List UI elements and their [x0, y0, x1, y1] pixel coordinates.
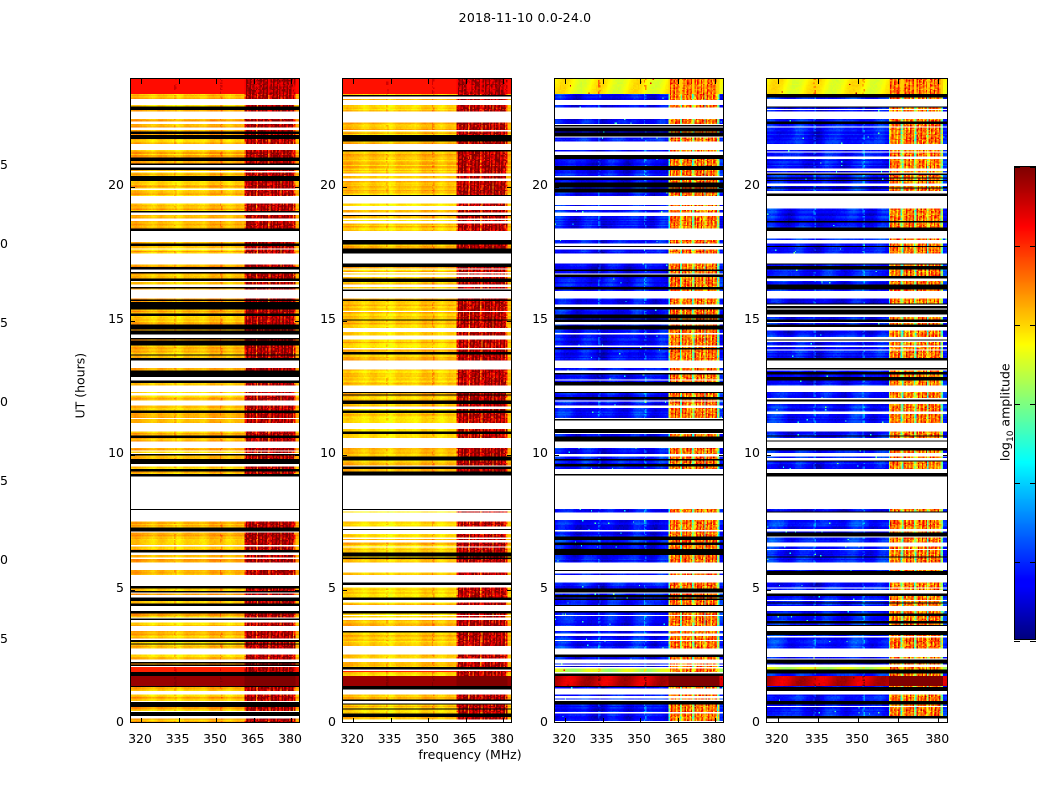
x-tick-top [678, 79, 679, 84]
x-tick-label: 320 [544, 731, 584, 746]
x-tick [179, 718, 180, 723]
x-tick-top [565, 79, 566, 84]
x-tick-label: 380 [694, 731, 734, 746]
colorbar-tick-label: −2.5 [0, 631, 8, 646]
x-tick [291, 718, 292, 723]
colorbar-tick [1014, 325, 1020, 326]
x-tick-top [898, 79, 899, 84]
y-tick [554, 590, 559, 591]
panel-yx[interactable]: YX, V2=EA12 [766, 78, 948, 723]
x-tick [678, 718, 679, 723]
x-tick-label: 380 [482, 731, 522, 746]
y-tick [766, 590, 771, 591]
colorbar-tick-right [1030, 325, 1036, 326]
y-tick [130, 590, 135, 591]
x-tick [898, 718, 899, 723]
x-tick-label: 335 [582, 731, 622, 746]
x-tick [640, 718, 641, 723]
x-tick [428, 718, 429, 723]
x-tick-top [603, 79, 604, 84]
colorbar-tick-label: 0.5 [0, 157, 8, 172]
y-tick-label: 0 [720, 714, 760, 729]
colorbar-tick-right [1030, 562, 1036, 563]
y-axis-label: UT (hours) [73, 378, 88, 418]
x-tick-label: 320 [120, 731, 160, 746]
y-tick-label: 10 [508, 445, 548, 460]
x-tick [858, 718, 859, 723]
y-tick-label: 20 [84, 177, 124, 192]
colorbar-label-sub: 10 [1006, 431, 1016, 442]
y-tick-label: 20 [720, 177, 760, 192]
x-tick-label: 335 [797, 731, 837, 746]
colorbar-tick-label: −1.5 [0, 473, 8, 488]
x-tick [938, 718, 939, 723]
y-tick-label: 5 [720, 580, 760, 595]
panel-xx[interactable]: XX, V2=EA12 [130, 78, 300, 723]
x-tick [391, 718, 392, 723]
x-tick-label: 365 [657, 731, 697, 746]
x-tick [818, 718, 819, 723]
y-tick-label: 0 [84, 714, 124, 729]
y-tick-right [943, 590, 948, 591]
x-tick [715, 718, 716, 723]
x-tick-top [216, 79, 217, 84]
y-tick [766, 187, 771, 188]
x-tick-top [858, 79, 859, 84]
colorbar-tick-right [1030, 483, 1036, 484]
colorbar-tick [1014, 641, 1020, 642]
x-tick-top [141, 79, 142, 84]
colorbar-tick-label: −2.0 [0, 552, 8, 567]
x-tick-top [291, 79, 292, 84]
x-tick [503, 718, 504, 723]
panel-yy[interactable]: YY, V2=EA12 [342, 78, 512, 723]
colorbar-label: log10 amplitude [998, 363, 1017, 461]
figure-suptitle: 2018-11-10 0.0-24.0 [0, 10, 1050, 25]
x-tick [603, 718, 604, 723]
x-tick-top [428, 79, 429, 84]
x-tick-top [503, 79, 504, 84]
x-tick-label: 350 [837, 731, 877, 746]
x-tick-label: 335 [370, 731, 410, 746]
y-tick-right [943, 321, 948, 322]
waterfall-canvas-xx [131, 79, 299, 722]
y-tick-label: 15 [84, 311, 124, 326]
y-tick [130, 187, 135, 188]
x-tick [353, 718, 354, 723]
colorbar-tick-right [1030, 167, 1036, 168]
x-tick [466, 718, 467, 723]
x-tick [141, 718, 142, 723]
y-tick-label: 0 [296, 714, 336, 729]
x-tick-top [353, 79, 354, 84]
waterfall-canvas-yy [343, 79, 511, 722]
colorbar[interactable] [1014, 166, 1036, 640]
x-tick-top [640, 79, 641, 84]
y-tick-label: 15 [296, 311, 336, 326]
colorbar-tick [1014, 483, 1020, 484]
colorbar-tick-label: 0.0 [0, 236, 8, 251]
y-tick [554, 455, 559, 456]
y-tick-label: 15 [508, 311, 548, 326]
y-tick-label: 15 [720, 311, 760, 326]
x-tick [778, 718, 779, 723]
y-tick-label: 10 [720, 445, 760, 460]
y-tick [130, 321, 135, 322]
x-tick-label: 380 [917, 731, 957, 746]
y-tick-label: 20 [296, 177, 336, 192]
colorbar-tick [1014, 246, 1020, 247]
y-tick-label: 5 [84, 580, 124, 595]
x-tick-label: 335 [158, 731, 198, 746]
x-tick-label: 380 [270, 731, 310, 746]
y-tick-label: 10 [296, 445, 336, 460]
x-tick-label: 350 [407, 731, 447, 746]
y-tick [342, 590, 347, 591]
y-tick [342, 321, 347, 322]
colorbar-label-base: log [998, 442, 1013, 461]
x-tick-top [254, 79, 255, 84]
x-tick-label: 350 [619, 731, 659, 746]
x-tick-top [179, 79, 180, 84]
colorbar-tick [1014, 167, 1020, 168]
y-tick [130, 455, 135, 456]
x-tick-top [818, 79, 819, 84]
x-tick-top [391, 79, 392, 84]
y-tick [554, 321, 559, 322]
colorbar-tick-label: −1.0 [0, 394, 8, 409]
y-tick-label: 20 [508, 177, 548, 192]
y-tick-label: 5 [296, 580, 336, 595]
panel-image-yx [767, 79, 947, 722]
x-tick [565, 718, 566, 723]
colorbar-tick-right [1030, 246, 1036, 247]
colorbar-tick-right [1030, 404, 1036, 405]
colorbar-tick [1014, 562, 1020, 563]
colorbar-tick-right [1030, 641, 1036, 642]
x-tick-label: 365 [233, 731, 273, 746]
waterfall-canvas-xy [555, 79, 723, 722]
x-tick-top [778, 79, 779, 84]
colorbar-tick-label: −0.5 [0, 315, 8, 330]
colorbar-gradient [1015, 167, 1035, 639]
panel-image-xy [555, 79, 723, 722]
y-tick-right [943, 455, 948, 456]
colorbar-label-rest: amplitude [998, 363, 1013, 430]
y-tick-label: 10 [84, 445, 124, 460]
y-tick-label: 5 [508, 580, 548, 595]
x-tick-label: 365 [877, 731, 917, 746]
x-axis-label: frequency (MHz) [340, 747, 600, 762]
x-tick-top [938, 79, 939, 84]
panel-xy[interactable]: XY, V2=EA12 [554, 78, 724, 723]
panel-image-xx [131, 79, 299, 722]
y-tick [342, 455, 347, 456]
y-tick [342, 187, 347, 188]
panel-image-yy [343, 79, 511, 722]
y-tick-right [943, 187, 948, 188]
waterfall-canvas-yx [767, 79, 947, 722]
x-tick-top [715, 79, 716, 84]
x-tick-label: 320 [757, 731, 797, 746]
x-tick-label: 320 [332, 731, 372, 746]
x-tick [216, 718, 217, 723]
y-tick-label: 0 [508, 714, 548, 729]
x-tick [254, 718, 255, 723]
figure-canvas: 2018-11-10 0.0-24.0 XX, V2=EA12YY, V2=EA… [0, 0, 1050, 800]
y-tick [554, 187, 559, 188]
x-tick-label: 365 [445, 731, 485, 746]
x-tick-top [466, 79, 467, 84]
y-tick [766, 455, 771, 456]
x-tick-label: 350 [195, 731, 235, 746]
y-tick [766, 321, 771, 322]
